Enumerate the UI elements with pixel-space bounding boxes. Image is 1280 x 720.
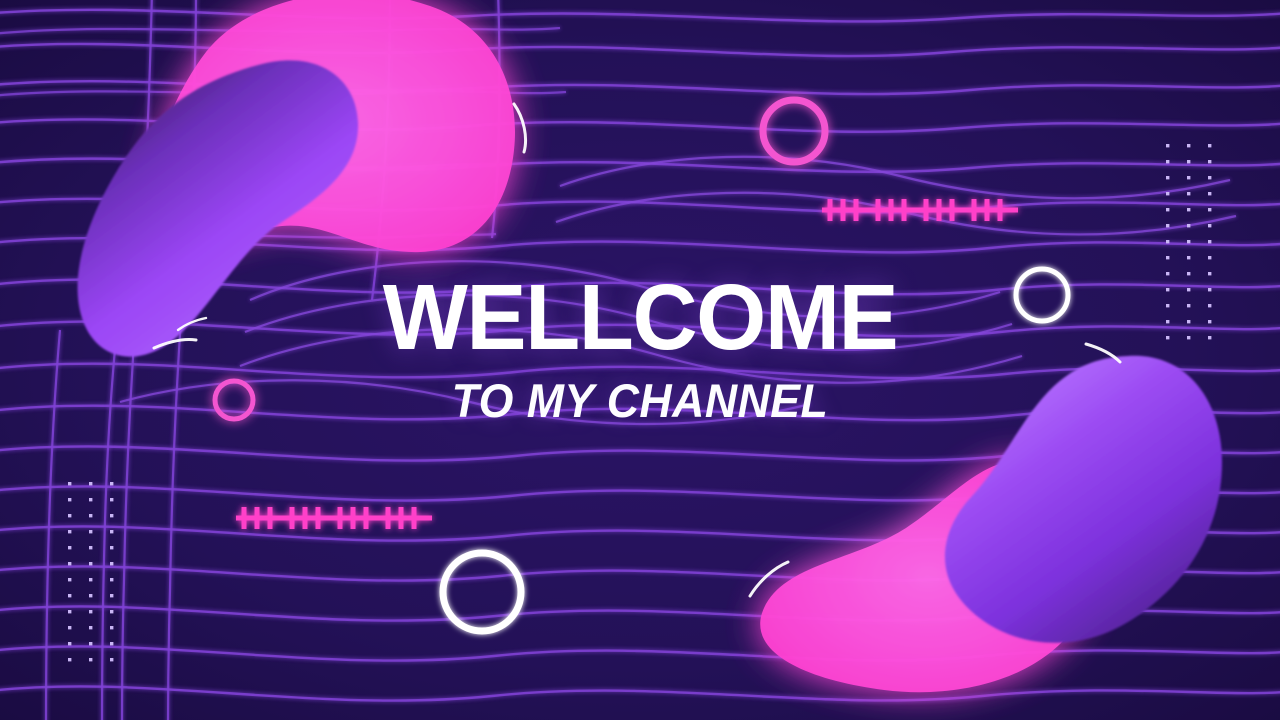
grid-dot: [1187, 176, 1190, 179]
grid-dot: [1166, 208, 1169, 211]
hash-row-lower-left: [236, 507, 432, 529]
grid-dot: [1208, 144, 1211, 147]
grid-dot: [1187, 208, 1190, 211]
grid-dot: [110, 498, 113, 501]
grid-dot: [1166, 256, 1169, 259]
grid-dot: [110, 658, 113, 661]
grid-dot: [89, 498, 92, 501]
grid-dot: [89, 642, 92, 645]
grid-dot: [89, 658, 92, 661]
grid-dot: [1208, 208, 1211, 211]
grid-dot: [110, 514, 113, 517]
grid-dot: [110, 482, 113, 485]
title-block: WELLCOME TO MY CHANNEL: [0, 272, 1280, 424]
grid-dot: [1187, 256, 1190, 259]
grid-dot: [110, 626, 113, 629]
grid-dot: [1166, 144, 1169, 147]
grid-dot: [110, 642, 113, 645]
grid-dot: [1208, 160, 1211, 163]
grid-dot: [89, 578, 92, 581]
page-subtitle: TO MY CHANNEL: [32, 377, 1248, 424]
grid-dot: [68, 610, 71, 613]
grid-dot: [1208, 240, 1211, 243]
ring-white-bottom-icon: [443, 553, 521, 631]
arc-accent-bottom-right-icon: [750, 562, 788, 596]
grid-dot: [1166, 176, 1169, 179]
grid-dot: [1166, 192, 1169, 195]
grid-dot: [110, 594, 113, 597]
grid-dot: [68, 626, 71, 629]
grid-dot: [68, 562, 71, 565]
grid-dot: [89, 626, 92, 629]
grid-dot: [89, 530, 92, 533]
grid-dot: [68, 546, 71, 549]
grid-dot: [110, 546, 113, 549]
grid-dot: [1166, 224, 1169, 227]
grid-dot: [110, 578, 113, 581]
grid-dot: [68, 482, 71, 485]
grid-dot: [89, 482, 92, 485]
grid-dot: [68, 514, 71, 517]
hash-row-upper-right: [822, 199, 1018, 221]
grid-dot: [89, 546, 92, 549]
grid-dot: [89, 594, 92, 597]
grid-dot: [1187, 160, 1190, 163]
ring-pink-top-right-icon: [763, 100, 825, 162]
banner-canvas: WELLCOME TO MY CHANNEL: [0, 0, 1280, 720]
arc-accent-top-mid-icon: [514, 104, 526, 152]
grid-dot: [1187, 144, 1190, 147]
grid-dot: [1187, 224, 1190, 227]
grid-dot: [89, 610, 92, 613]
grid-dot: [1187, 192, 1190, 195]
grid-dot: [1208, 192, 1211, 195]
grid-dot: [68, 530, 71, 533]
page-title: WELLCOME: [19, 272, 1261, 363]
grid-dot: [1208, 256, 1211, 259]
grid-dot: [1187, 240, 1190, 243]
grid-dot: [1208, 176, 1211, 179]
grid-dot: [68, 594, 71, 597]
grid-dot: [110, 530, 113, 533]
grid-dot: [1166, 160, 1169, 163]
grid-dot: [1208, 224, 1211, 227]
grid-dot: [110, 610, 113, 613]
dot-grid-left: [68, 482, 113, 661]
grid-dot: [110, 562, 113, 565]
grid-dot: [68, 498, 71, 501]
grid-dot: [68, 642, 71, 645]
grid-dot: [89, 514, 92, 517]
grid-dot: [1166, 240, 1169, 243]
grid-dot: [89, 562, 92, 565]
grid-dot: [68, 578, 71, 581]
grid-dot: [68, 658, 71, 661]
